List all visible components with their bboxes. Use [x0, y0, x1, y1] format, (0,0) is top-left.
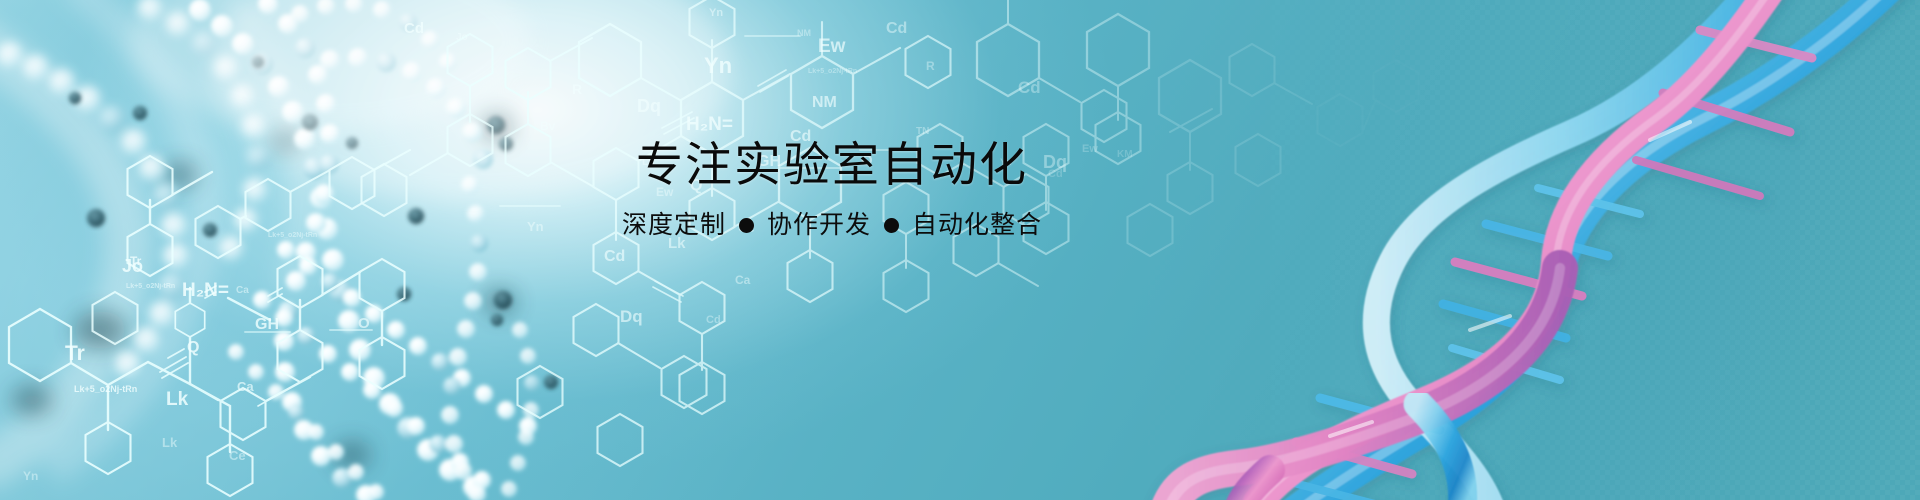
subtitle-separator-icon — [739, 218, 754, 233]
banner-subtitle: 深度定制协作开发自动化整合 — [612, 212, 1052, 240]
subtitle-separator-icon — [884, 218, 899, 233]
subtitle-item-2: 协作开发 — [767, 212, 871, 240]
hero-banner: CdJoYnEwNMCdYnRCdTNNMH₂N=CdDqYnDqEwKMCdR… — [0, 0, 1920, 500]
subtitle-item-3: 自动化整合 — [912, 212, 1042, 240]
banner-text-block: 专注实验室自动化 深度定制协作开发自动化整合 — [612, 140, 1052, 239]
page-title: 专注实验室自动化 — [612, 140, 1052, 190]
dna-double-helix-artwork — [0, 0, 1920, 500]
subtitle-item-1: 深度定制 — [622, 212, 726, 240]
